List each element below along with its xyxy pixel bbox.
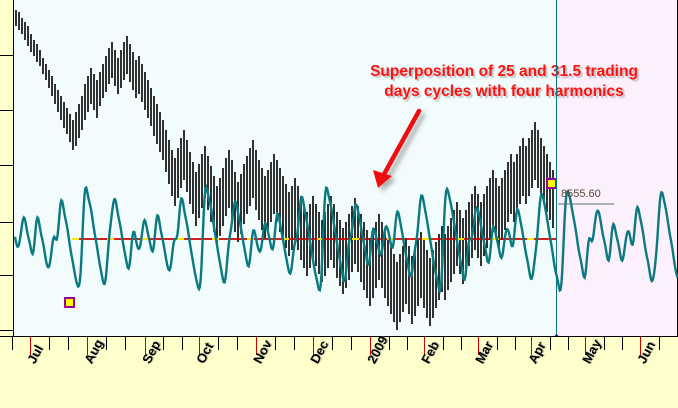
- time-axis[interactable]: JulAugSepOctNovDec2009FebMarAprMayJun: [0, 336, 678, 408]
- time-axis-minor-tick: [218, 337, 219, 350]
- time-axis-label: Aug: [81, 337, 106, 366]
- time-axis-label: Jun: [634, 339, 658, 366]
- price-axis-tick: [0, 110, 14, 111]
- price-axis-tick: [0, 330, 14, 331]
- time-axis-minor-tick: [294, 337, 295, 350]
- time-axis-minor-tick: [407, 337, 408, 350]
- time-axis-minor-tick: [125, 337, 126, 350]
- time-axis-label: 2009: [364, 333, 391, 366]
- time-axis-minor-tick: [568, 337, 569, 350]
- time-axis-minor-tick: [163, 337, 164, 350]
- cycle-low-marker[interactable]: [64, 297, 75, 308]
- time-axis-minor-tick: [443, 337, 444, 350]
- history-plot-area[interactable]: [14, 0, 556, 336]
- chart-window: Superposition of 25 and 31.5 trading day…: [0, 0, 678, 408]
- time-axis-minor-tick: [622, 337, 623, 350]
- time-axis-minor-tick: [49, 337, 50, 350]
- time-axis-label: Mar: [472, 339, 496, 366]
- time-axis-label: Dec: [307, 338, 331, 366]
- time-axis-minor-tick: [659, 337, 660, 350]
- price-axis-tick: [0, 222, 14, 223]
- price-axis-tick: [0, 165, 14, 166]
- time-axis-label: Apr: [525, 339, 549, 366]
- time-axis-minor-tick: [68, 337, 69, 350]
- time-axis-minor-tick: [237, 337, 238, 350]
- price-level-label: 8555.60: [561, 188, 601, 200]
- forecast-divider-line: [556, 0, 557, 385]
- time-axis-minor-tick: [12, 337, 13, 350]
- price-axis-tick: [0, 275, 14, 276]
- time-axis-minor-tick: [461, 337, 462, 350]
- time-axis-label: Nov: [250, 337, 275, 366]
- time-axis-label: Oct: [193, 340, 216, 366]
- forecast-plot-area[interactable]: [556, 0, 678, 336]
- time-axis-minor-tick: [550, 337, 551, 350]
- time-axis-minor-tick: [351, 337, 352, 350]
- time-axis-label: May: [579, 337, 604, 366]
- time-axis-minor-tick: [497, 337, 498, 350]
- time-axis-minor-tick: [515, 337, 516, 350]
- time-axis-minor-tick: [182, 337, 183, 350]
- time-axis-label: Sep: [139, 338, 163, 366]
- time-axis-label: Feb: [418, 339, 442, 366]
- time-axis-minor-tick: [332, 337, 333, 350]
- price-axis-tick: [0, 55, 14, 56]
- price-axis[interactable]: [0, 0, 14, 336]
- annotation-text: Superposition of 25 and 31.5 trading day…: [332, 62, 676, 102]
- time-axis-label: Jul: [24, 342, 46, 366]
